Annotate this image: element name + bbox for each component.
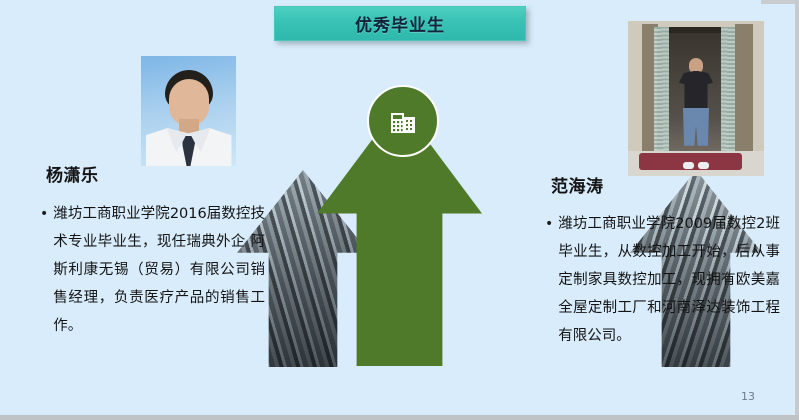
person-shoe-right <box>698 162 709 169</box>
doorway-frame-right <box>735 24 753 167</box>
profile-bullet-left: • 潍坊工商职业学院2016届数控技术专业毕业生，现任瑞典外企 阿斯利康无锡（贸… <box>40 200 265 340</box>
bullet-marker: • <box>545 210 553 350</box>
person-shoe-left <box>683 162 694 169</box>
doorway-curtain-right <box>721 27 736 157</box>
bullet-marker: • <box>40 200 48 340</box>
slide-title-banner: 优秀毕业生 <box>274 6 526 41</box>
bullet-text: 潍坊工商职业学院2016届数控技术专业毕业生，现任瑞典外企 阿斯利康无锡（贸易）… <box>53 200 265 340</box>
profile-name-left: 杨潇乐 <box>46 161 99 186</box>
profile-name-right: 范海涛 <box>551 172 604 197</box>
profile-photo-left <box>141 56 236 166</box>
presentation-slide: 优秀毕业生 <box>0 0 799 420</box>
portrait-neck <box>179 119 199 133</box>
bullet-text: 潍坊工商职业学院2009届数控2班毕业生，从数控加工开始，后从事定制家具数控加工… <box>558 210 780 350</box>
slide-right-gutter <box>795 0 799 420</box>
slide-topright-gutter <box>761 0 795 4</box>
icon-circle-badge <box>367 85 439 157</box>
profile-bullet-right: • 潍坊工商职业学院2009届数控2班毕业生，从数控加工开始，后从事定制家具数控… <box>545 210 780 350</box>
slide-bottom-gutter <box>0 415 799 420</box>
doorway-curtain-left <box>654 27 669 157</box>
page-number: 13 <box>741 390 755 403</box>
page-title: 优秀毕业生 <box>355 11 445 36</box>
profile-photo-right <box>628 21 764 176</box>
office-building-icon <box>386 104 420 138</box>
